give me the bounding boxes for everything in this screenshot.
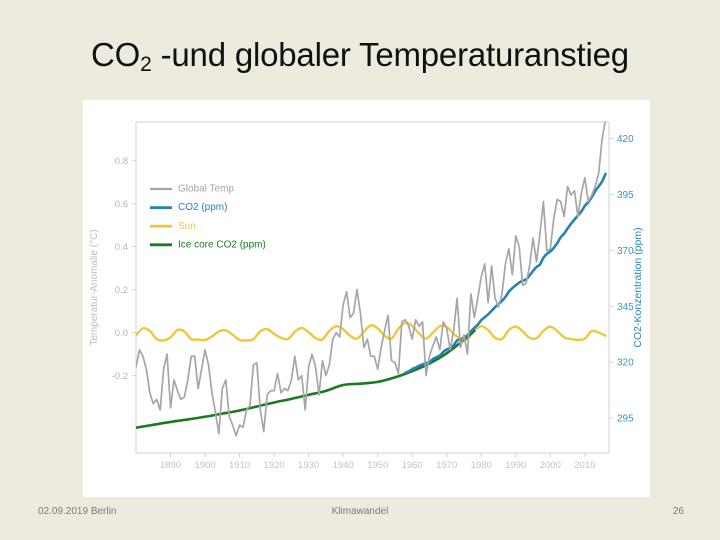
- chart-figure: -0.20.00.20.40.60.8295320345370395420189…: [83, 100, 650, 497]
- y2tick-label: 420: [617, 134, 634, 145]
- ytick-label: 0.6: [115, 199, 128, 210]
- page-title-subscript: 2: [140, 53, 151, 76]
- y2tick-label: 395: [617, 190, 634, 201]
- legend-label: Ice core CO2 (ppm): [178, 239, 266, 250]
- xtick-label: 1900: [194, 460, 215, 471]
- footer-page-number: 26: [673, 506, 684, 517]
- page-title-rest: -und globaler Temperaturanstieg: [152, 36, 629, 73]
- xtick-label: 1970: [436, 460, 457, 471]
- xtick-label: 1980: [471, 460, 492, 471]
- xtick-label: 1940: [333, 460, 354, 471]
- ytick-label: 0.0: [115, 328, 128, 339]
- ytick-label: 0.2: [115, 285, 128, 296]
- slide: CO2 -und globaler Temperaturanstieg -0.2…: [0, 0, 720, 540]
- xtick-label: 1910: [229, 460, 250, 471]
- ytick-label: -0.2: [112, 371, 128, 382]
- xtick-label: 2010: [574, 460, 595, 471]
- chart-svg: -0.20.00.20.40.60.8295320345370395420189…: [83, 100, 650, 497]
- ytick-label: 0.8: [115, 156, 128, 167]
- xtick-label: 2000: [540, 460, 561, 471]
- xtick-label: 1960: [402, 460, 423, 471]
- xtick-label: 1950: [367, 460, 388, 471]
- footer-topic: Klimawandel: [0, 506, 720, 517]
- xtick-label: 1890: [160, 460, 181, 471]
- legend-label: CO2 (ppm): [178, 202, 227, 213]
- ytick-label: 0.4: [115, 242, 128, 253]
- legend-label: Global Temp: [178, 184, 234, 195]
- page-title: CO2 -und globaler Temperaturanstieg: [0, 36, 720, 74]
- plot-background: [136, 122, 609, 453]
- xtick-label: 1990: [505, 460, 526, 471]
- slide-footer: 02.09.2019 Berlin Klimawandel 26: [0, 506, 720, 526]
- y2tick-label: 295: [617, 414, 634, 425]
- xtick-label: 1930: [298, 460, 319, 471]
- y-axis-label-left: Temperatur-Anomalie (°C): [89, 229, 100, 345]
- xtick-label: 1920: [264, 460, 285, 471]
- legend-label: Sun: [178, 221, 196, 232]
- page-title-co: CO: [91, 36, 140, 73]
- y2tick-label: 320: [617, 358, 634, 369]
- chart-plot-area: -0.20.00.20.40.60.8295320345370395420189…: [83, 100, 650, 497]
- y-axis-label-right: CO2-Konzentration (ppm): [632, 227, 644, 347]
